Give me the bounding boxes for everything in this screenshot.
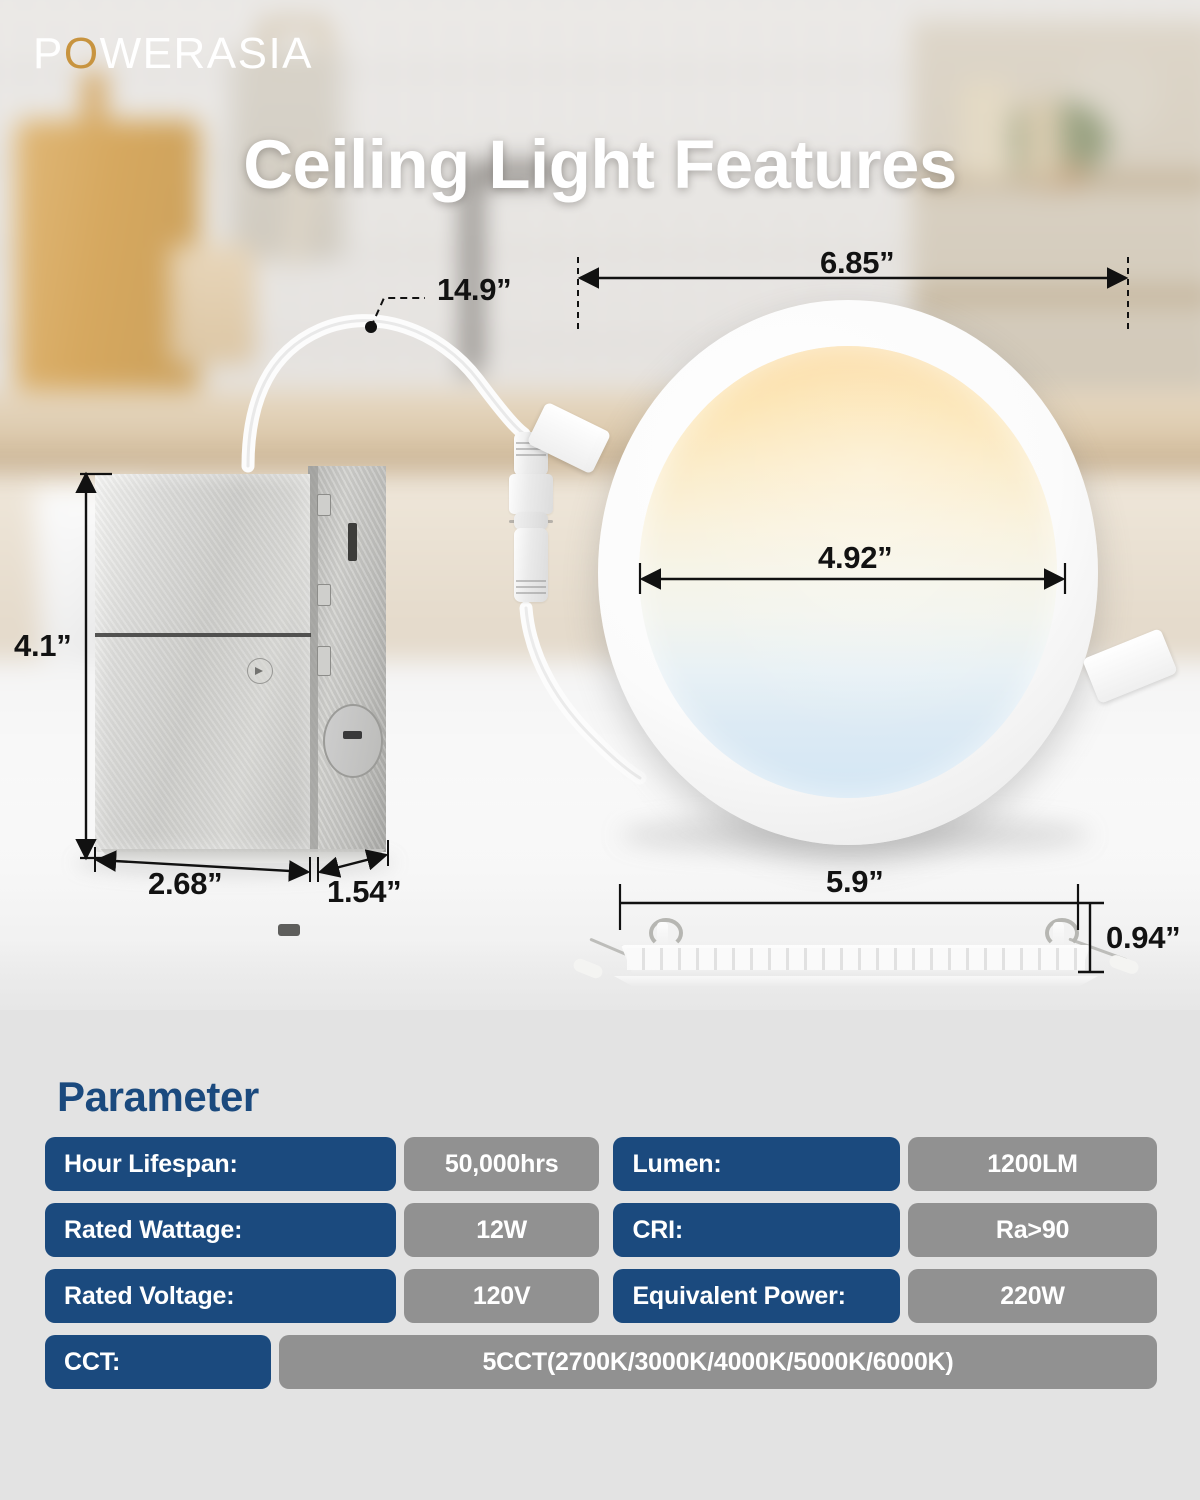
- param-value-hour-lifespan: 50,000hrs: [404, 1137, 600, 1191]
- param-label-cri: CRI:: [613, 1203, 900, 1257]
- etl-stamp-icon: [247, 658, 273, 684]
- junction-box-base: [95, 849, 385, 863]
- quick-connector: [508, 432, 556, 622]
- junction-box-photo: [95, 466, 385, 856]
- param-value-rated-voltage: 120V: [404, 1269, 600, 1323]
- table-row: CCT: 5CCT(2700K/3000K/4000K/5000K/6000K): [45, 1335, 1157, 1389]
- knockout-circle-slot: [343, 731, 362, 739]
- param-value-cri: Ra>90: [908, 1203, 1157, 1257]
- logo-letter-o-gold: O: [64, 29, 100, 78]
- knockout-tab: [317, 584, 331, 606]
- connector-segment-bottom: [514, 528, 548, 602]
- decor-jar: [170, 245, 255, 365]
- param-label-rated-wattage: Rated Wattage:: [45, 1203, 396, 1257]
- connector-collar: [509, 474, 553, 514]
- knockout-tab: [317, 646, 331, 676]
- connector-rib: [516, 580, 546, 582]
- parameter-heading: Parameter: [57, 1073, 259, 1121]
- table-row: Rated Voltage: 120V Equivalent Power: 22…: [45, 1269, 1157, 1323]
- spring-tip-left: [572, 957, 605, 980]
- dim-label-lens-diameter: 4.92”: [818, 540, 892, 576]
- brand-logo: POWERASIA: [33, 32, 313, 76]
- downlight-side-profile: [575, 900, 1135, 990]
- logo-letters-rest: WERASIA: [100, 29, 313, 78]
- param-label-hour-lifespan: Hour Lifespan:: [45, 1137, 396, 1191]
- dim-label-profile-height: 0.94”: [1106, 920, 1180, 956]
- dim-label-outer-diameter: 6.85”: [820, 245, 894, 281]
- infographic-canvas: POWERASIA Ceiling Light Features: [0, 0, 1200, 1500]
- param-value-cct: 5CCT(2700K/3000K/4000K/5000K/6000K): [279, 1335, 1157, 1389]
- param-label-cct: CCT:: [45, 1335, 271, 1389]
- param-label-lumen: Lumen:: [613, 1137, 900, 1191]
- page-title: Ceiling Light Features: [0, 125, 1200, 204]
- connector-rib: [516, 592, 546, 594]
- knockout-circle: [323, 704, 383, 778]
- param-value-equivalent-power: 220W: [908, 1269, 1157, 1323]
- dim-label-cable-length: 14.9”: [437, 272, 511, 308]
- junction-box-cable-clamp: [278, 924, 300, 936]
- table-row: Hour Lifespan: 50,000hrs Lumen: 1200LM: [45, 1137, 1157, 1191]
- knockout-slot: [348, 523, 357, 561]
- param-label-rated-voltage: Rated Voltage:: [45, 1269, 396, 1323]
- param-value-rated-wattage: 12W: [404, 1203, 600, 1257]
- dim-label-cutout-width: 5.9”: [826, 864, 883, 900]
- connector-rib: [516, 586, 546, 588]
- junction-box-seam: [95, 633, 311, 637]
- dim-label-jbox-height: 4.1”: [14, 628, 71, 664]
- housing-fins: [627, 948, 1085, 970]
- junction-box-front-panel: [95, 474, 310, 852]
- housing-flange: [609, 976, 1103, 987]
- table-row: Rated Wattage: 12W CRI: Ra>90: [45, 1203, 1157, 1257]
- param-label-equivalent-power: Equivalent Power:: [613, 1269, 900, 1323]
- param-value-lumen: 1200LM: [908, 1137, 1157, 1191]
- dim-label-jbox-depth: 1.54”: [327, 874, 401, 910]
- parameter-table: Hour Lifespan: 50,000hrs Lumen: 1200LM R…: [45, 1137, 1157, 1401]
- connector-rib: [516, 454, 546, 456]
- dim-label-jbox-width: 2.68”: [148, 866, 222, 902]
- knockout-tab: [317, 494, 331, 516]
- logo-letter-p: P: [33, 29, 64, 78]
